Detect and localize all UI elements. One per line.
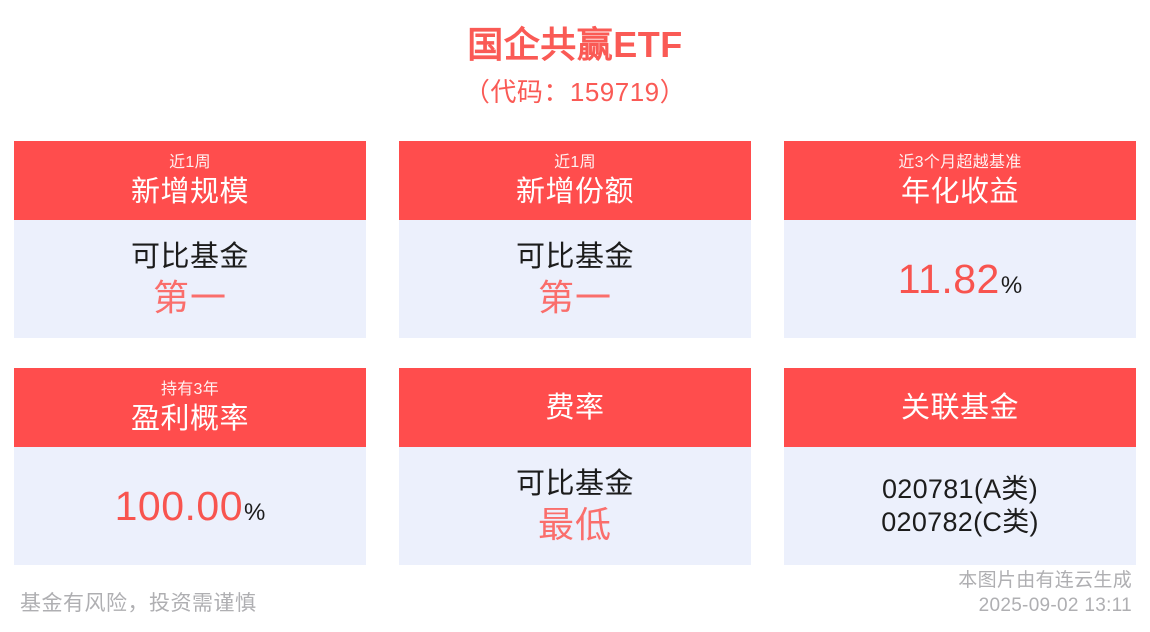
card-header-subtitle: 近1周 bbox=[554, 152, 596, 174]
card-header-title: 盈利概率 bbox=[131, 401, 249, 437]
card-body-highlight: 第一 bbox=[153, 276, 227, 320]
card-header-title: 年化收益 bbox=[901, 174, 1019, 210]
card-header-subtitle: 持有3年 bbox=[161, 379, 219, 401]
related-fund-code-a: 020781(A类) bbox=[881, 473, 1039, 506]
card-header: 持有3年 盈利概率 bbox=[14, 368, 366, 447]
card-header: 近1周 新增规模 bbox=[14, 141, 366, 220]
metric-card-profit-probability[interactable]: 持有3年 盈利概率 100.00 % bbox=[14, 368, 366, 565]
card-metric: 100.00 % bbox=[115, 482, 266, 530]
generated-timestamp: 2025-09-02 13:11 bbox=[958, 593, 1132, 618]
card-body-label: 可比基金 bbox=[516, 465, 634, 503]
card-header: 费率 bbox=[399, 368, 751, 447]
card-body: 可比基金 最低 bbox=[399, 447, 751, 565]
card-body: 可比基金 第一 bbox=[14, 220, 366, 338]
card-body: 020781(A类) 020782(C类) bbox=[784, 447, 1136, 565]
page-title-block: 国企共赢ETF （代码：159719） bbox=[0, 0, 1150, 112]
metric-card-fee-rate[interactable]: 费率 可比基金 最低 bbox=[399, 368, 751, 565]
card-body: 100.00 % bbox=[14, 447, 366, 565]
card-header-subtitle: 近3个月超越基准 bbox=[898, 152, 1021, 174]
card-header-subtitle: 近1周 bbox=[169, 152, 211, 174]
generated-by-label: 本图片由有连云生成 bbox=[958, 568, 1132, 593]
related-fund-code-c: 020782(C类) bbox=[881, 506, 1039, 539]
card-body-label: 可比基金 bbox=[131, 238, 249, 276]
card-header: 关联基金 bbox=[784, 368, 1136, 447]
card-body: 可比基金 第一 bbox=[399, 220, 751, 338]
card-metric-value: 11.82 bbox=[898, 255, 1000, 303]
footer: 基金有风险，投资需谨慎 本图片由有连云生成 2025-09-02 13:11 bbox=[0, 566, 1150, 632]
card-header: 近3个月超越基准 年化收益 bbox=[784, 141, 1136, 220]
metric-card-new-shares[interactable]: 近1周 新增份额 可比基金 第一 bbox=[399, 141, 751, 338]
metric-card-new-scale[interactable]: 近1周 新增规模 可比基金 第一 bbox=[14, 141, 366, 338]
card-header-title: 费率 bbox=[545, 388, 604, 428]
risk-disclaimer: 基金有风险，投资需谨慎 bbox=[20, 590, 257, 618]
card-metric-unit: % bbox=[1001, 271, 1022, 301]
card-body: 11.82 % bbox=[784, 220, 1136, 338]
card-metric-value: 100.00 bbox=[115, 482, 243, 530]
card-header: 近1周 新增份额 bbox=[399, 141, 751, 220]
card-header-title: 新增份额 bbox=[516, 174, 634, 210]
card-metric: 11.82 % bbox=[898, 255, 1022, 303]
card-body-highlight: 第一 bbox=[538, 276, 612, 320]
related-fund-codes: 020781(A类) 020782(C类) bbox=[881, 473, 1039, 539]
card-metric-unit: % bbox=[244, 498, 265, 528]
page-title: 国企共赢ETF bbox=[0, 22, 1150, 68]
card-body-label: 可比基金 bbox=[516, 238, 634, 276]
metric-card-grid: 近1周 新增规模 可比基金 第一 近1周 新增份额 可比基金 第一 近3个月超越… bbox=[14, 141, 1136, 565]
metric-card-related-funds[interactable]: 关联基金 020781(A类) 020782(C类) bbox=[784, 368, 1136, 565]
footer-attribution: 本图片由有连云生成 2025-09-02 13:11 bbox=[958, 568, 1132, 618]
fund-code-label: （代码：159719） bbox=[0, 72, 1150, 112]
metric-card-excess-annual-return[interactable]: 近3个月超越基准 年化收益 11.82 % bbox=[784, 141, 1136, 338]
card-header-title: 关联基金 bbox=[901, 388, 1019, 428]
card-body-highlight: 最低 bbox=[538, 503, 612, 547]
card-header-title: 新增规模 bbox=[131, 174, 249, 210]
